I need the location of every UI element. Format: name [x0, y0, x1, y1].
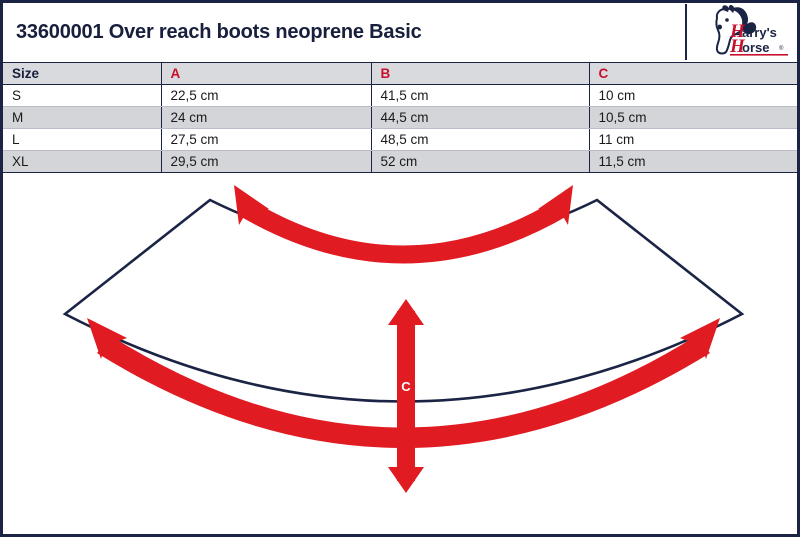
- cell-c: 10 cm: [589, 85, 797, 107]
- cell-size: S: [3, 85, 161, 107]
- cell-a: 24 cm: [161, 107, 371, 129]
- cell-a: 29,5 cm: [161, 151, 371, 173]
- column-header-b: B: [371, 63, 589, 85]
- svg-text:arry's: arry's: [742, 25, 777, 40]
- product-sizing-sheet: 33600001 Over reach boots neoprene Basic: [0, 0, 800, 537]
- dimension-label-a: A: [401, 276, 411, 291]
- cell-c: 10,5 cm: [589, 107, 797, 129]
- cell-c: 11 cm: [589, 129, 797, 151]
- cell-size: XL: [3, 151, 161, 173]
- boot-dimension-diagram: A B C: [3, 173, 797, 537]
- table-row: L 27,5 cm 48,5 cm 11 cm: [3, 129, 797, 151]
- column-header-c: C: [589, 63, 797, 85]
- logo-artwork: H arry's H orse ®: [687, 4, 795, 58]
- cell-a: 27,5 cm: [161, 129, 371, 151]
- column-header-size: Size: [3, 63, 161, 85]
- cell-b: 48,5 cm: [371, 129, 589, 151]
- size-table: Size A B C S 22,5 cm 41,5 cm 10 cm M 24 …: [3, 62, 797, 173]
- svg-text:orse: orse: [742, 40, 769, 55]
- cell-size: L: [3, 129, 161, 151]
- diagram-svg: A B C: [3, 173, 797, 537]
- cell-b: 44,5 cm: [371, 107, 589, 129]
- cell-b: 41,5 cm: [371, 85, 589, 107]
- cell-b: 52 cm: [371, 151, 589, 173]
- table-row: S 22,5 cm 41,5 cm 10 cm: [3, 85, 797, 107]
- cell-a: 22,5 cm: [161, 85, 371, 107]
- cell-size: M: [3, 107, 161, 129]
- table-header-row: Size A B C: [3, 63, 797, 85]
- column-header-a: A: [161, 63, 371, 85]
- svg-text:®: ®: [779, 45, 784, 52]
- dimension-label-c: C: [401, 379, 411, 394]
- table-row: M 24 cm 44,5 cm 10,5 cm: [3, 107, 797, 129]
- cell-c: 11,5 cm: [589, 151, 797, 173]
- table-row: XL 29,5 cm 52 cm 11,5 cm: [3, 151, 797, 173]
- page-title: 33600001 Over reach boots neoprene Basic: [3, 21, 422, 44]
- harrys-horse-logo: H arry's H orse ®: [685, 4, 795, 60]
- header-bar: 33600001 Over reach boots neoprene Basic: [3, 3, 797, 62]
